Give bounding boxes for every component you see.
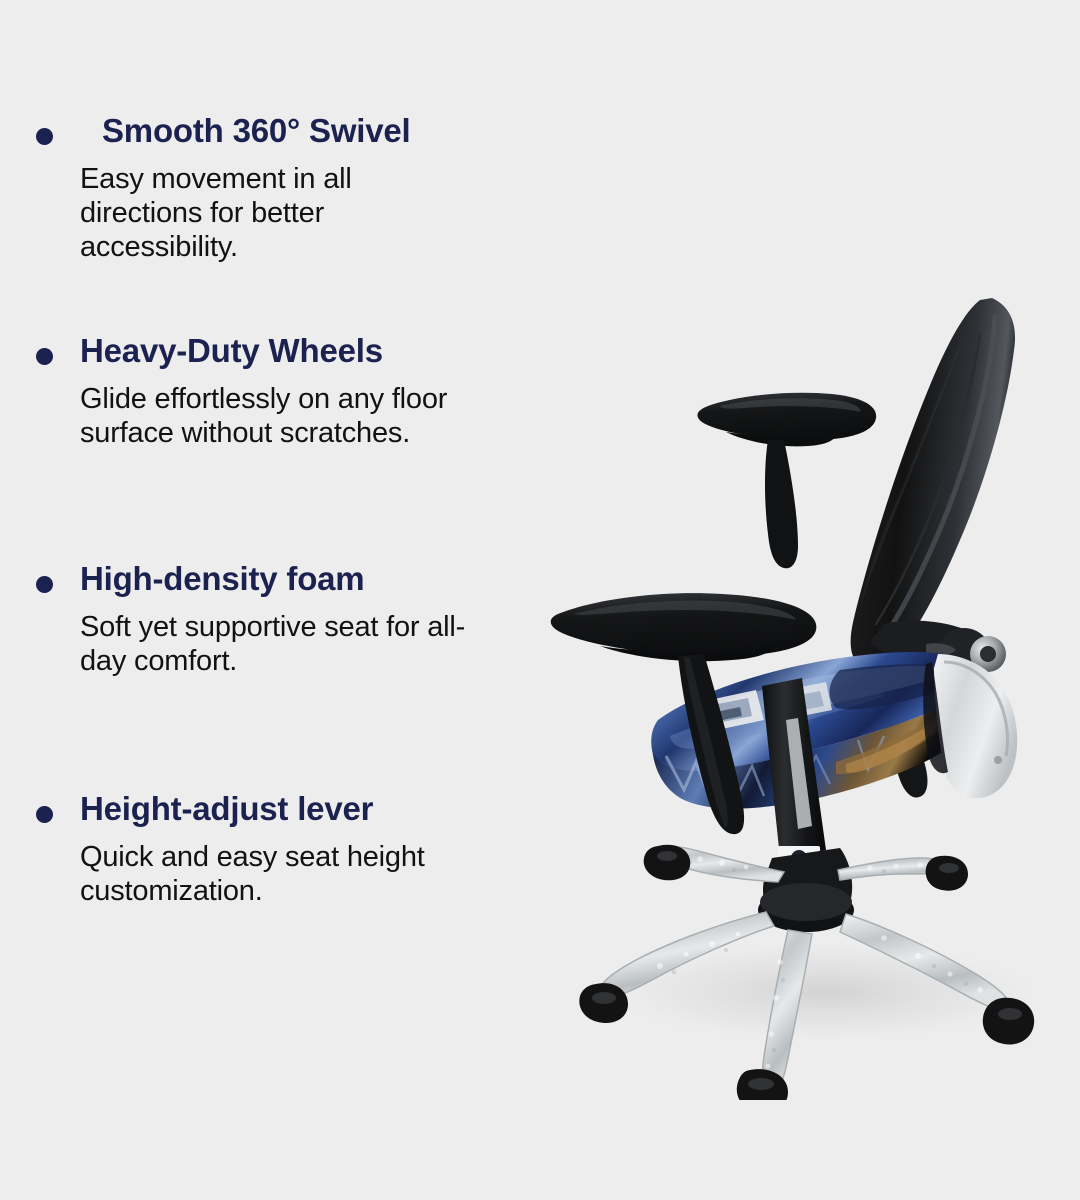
bullet-dot-icon xyxy=(36,348,53,365)
feature-title: Height-adjust lever xyxy=(80,790,540,829)
armrest-far-post xyxy=(765,440,798,568)
feature-item: Smooth 360° Swivel Easy movement in all … xyxy=(0,112,540,265)
feature-item: Heavy-Duty Wheels Glide effortlessly on … xyxy=(0,332,540,451)
feature-heading-row: High-density foam xyxy=(0,560,540,599)
feature-heading-column: High-density foam xyxy=(80,560,540,599)
product-feature-card: Smooth 360° Swivel Easy movement in all … xyxy=(0,0,1080,1200)
seat-back-panel xyxy=(934,654,1017,798)
bullet-dot-icon xyxy=(36,128,53,145)
bullet-wrap xyxy=(0,332,80,365)
feature-title: Smooth 360° Swivel xyxy=(80,112,540,151)
feature-description: Easy movement in all directions for bett… xyxy=(80,163,460,265)
armrest-far xyxy=(697,393,876,569)
caster-right-front[interactable] xyxy=(983,998,1034,1045)
caster-rear-right[interactable] xyxy=(926,856,968,891)
feature-heading-row: Heavy-Duty Wheels xyxy=(0,332,540,371)
bullet-wrap xyxy=(0,790,80,823)
feature-description: Glide effortlessly on any floor surface … xyxy=(80,383,485,451)
bullet-dot-icon xyxy=(36,576,53,593)
bullet-wrap xyxy=(0,112,80,145)
office-chair-illustration xyxy=(540,250,1080,1100)
feature-heading-column: Heavy-Duty Wheels xyxy=(80,332,540,371)
feature-heading-column: Smooth 360° Swivel xyxy=(80,112,540,151)
feature-heading-column: Height-adjust lever xyxy=(80,790,540,829)
feature-description: Quick and easy seat height customization… xyxy=(80,841,460,909)
product-image xyxy=(540,250,1080,1100)
caster-rear-left[interactable] xyxy=(644,845,691,881)
feature-list: Smooth 360° Swivel Easy movement in all … xyxy=(0,0,540,1200)
cylinder-hub-top xyxy=(760,883,852,921)
feature-description: Soft yet supportive seat for all-day com… xyxy=(80,611,480,679)
bullet-dot-icon xyxy=(36,806,53,823)
feature-heading-row: Height-adjust lever xyxy=(0,790,540,829)
tilt-knob-center xyxy=(980,646,996,662)
panel-screw-icon xyxy=(994,756,1002,764)
feature-title: Heavy-Duty Wheels xyxy=(80,332,540,371)
feature-item: High-density foam Soft yet supportive se… xyxy=(0,560,540,679)
feature-title: High-density foam xyxy=(80,560,540,599)
feature-heading-row: Smooth 360° Swivel xyxy=(0,112,540,151)
feature-item: Height-adjust lever Quick and easy seat … xyxy=(0,790,540,909)
bullet-wrap xyxy=(0,560,80,593)
